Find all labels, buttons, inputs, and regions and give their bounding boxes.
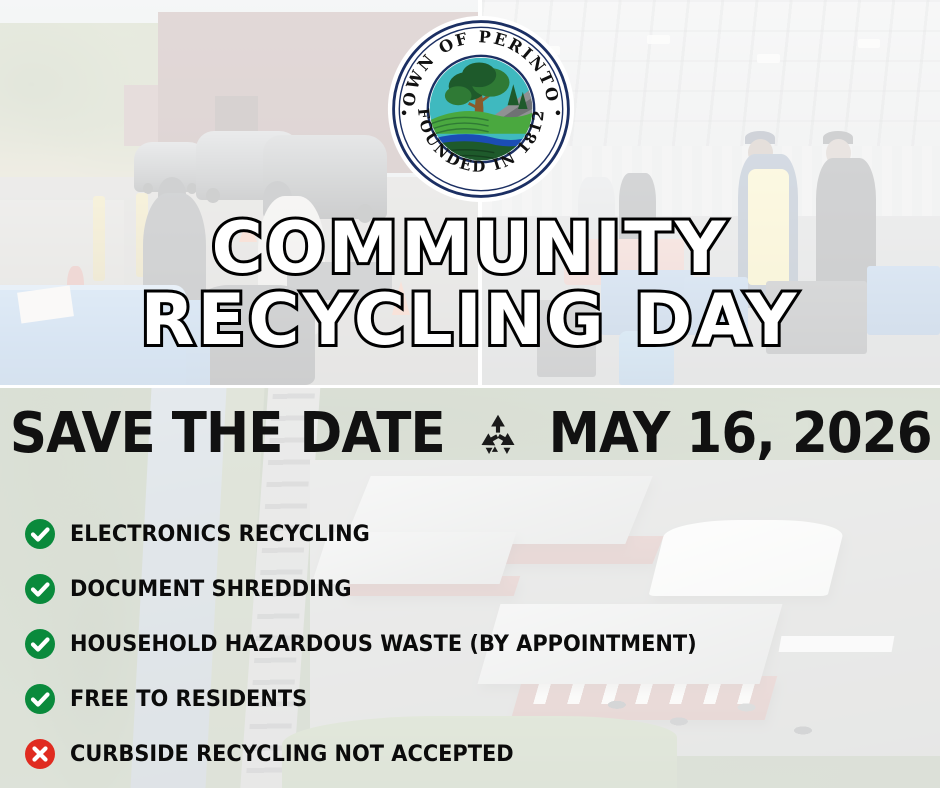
list-item: FREE TO RESIDENTS [24,681,904,717]
list-item: ELECTRONICS RECYCLING [24,516,904,552]
headline-line-2: RECYCLING DAY [0,288,940,352]
top-photo-strip: TOWN OF PERINTON FOUNDED IN 1812 COMMUNI… [0,0,940,385]
headline-line-1: COMMUNITY [0,216,940,280]
recycle-icon [476,412,520,456]
list-item-label: HOUSEHOLD HAZARDOUS WASTE (BY APPOINTMEN… [70,632,697,657]
recycling-day-poster: TOWN OF PERINTON FOUNDED IN 1812 COMMUNI… [0,0,940,788]
save-the-date-label: SAVE THE DATE [10,406,445,462]
save-the-date-row: SAVE THE DATE MAY 16, 2026 [0,406,940,462]
features-list: ELECTRONICS RECYCLING DOCUMENT SHREDDING [24,516,904,788]
town-of-perinton-seal: TOWN OF PERINTON FOUNDED IN 1812 [386,14,576,204]
event-date-label: MAY 16, 2026 [549,406,932,462]
list-item-label: DOCUMENT SHREDDING [70,577,352,602]
list-item-label: CURBSIDE RECYCLING NOT ACCEPTED [70,742,514,767]
check-circle-icon [24,573,56,605]
list-item: CURBSIDE RECYCLING NOT ACCEPTED [24,736,904,772]
list-item: DOCUMENT SHREDDING [24,571,904,607]
list-item: HOUSEHOLD HAZARDOUS WASTE (BY APPOINTMEN… [24,626,904,662]
check-circle-icon [24,683,56,715]
page-title: COMMUNITY RECYCLING DAY [0,216,940,353]
check-circle-icon [24,518,56,550]
x-circle-icon [24,738,56,770]
bottom-aerial-section: SAVE THE DATE MAY 16, 2026 [0,388,940,788]
check-circle-icon [24,628,56,660]
list-item-label: FREE TO RESIDENTS [70,687,307,712]
list-item-label: ELECTRONICS RECYCLING [70,522,370,547]
